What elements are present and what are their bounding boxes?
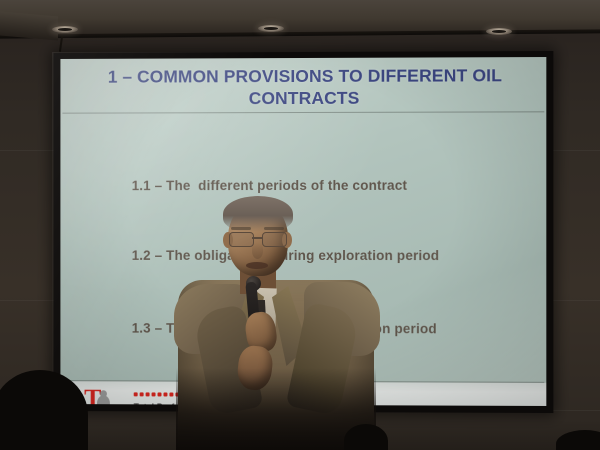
ceiling-soffit <box>0 11 58 40</box>
ceiling-light-icon <box>486 28 512 35</box>
glasses-icon <box>229 232 254 247</box>
speaker-brow-left <box>231 227 251 230</box>
slide-title: 1 – COMMON PROVISIONS TO DIFFERENT OIL C… <box>84 65 526 110</box>
slide-title-line-1: 1 – COMMON PROVISIONS TO DIFFERENT OIL <box>84 65 526 88</box>
glasses-bridge <box>252 237 262 239</box>
presentation-photo-scene: 1 – COMMON PROVISIONS TO DIFFERENT OIL C… <box>0 0 600 450</box>
speaker-brow-right <box>264 227 284 230</box>
total-logo-icon: T Total Prof <box>82 387 122 406</box>
logo-figure-icon <box>97 395 110 406</box>
speaker-nose <box>252 243 263 259</box>
slide-bullet-1: 1.1 – The different periods of the contr… <box>132 178 407 193</box>
slide-title-line-2: CONTRACTS <box>84 87 526 110</box>
audience-silhouette <box>344 424 388 450</box>
speaker-figure <box>176 196 376 450</box>
ceiling-light-icon <box>52 26 78 33</box>
slide-divider-top <box>62 111 544 113</box>
speaker-mouth <box>246 262 268 269</box>
glasses-icon <box>262 232 287 247</box>
ceiling-light-icon <box>258 25 284 32</box>
